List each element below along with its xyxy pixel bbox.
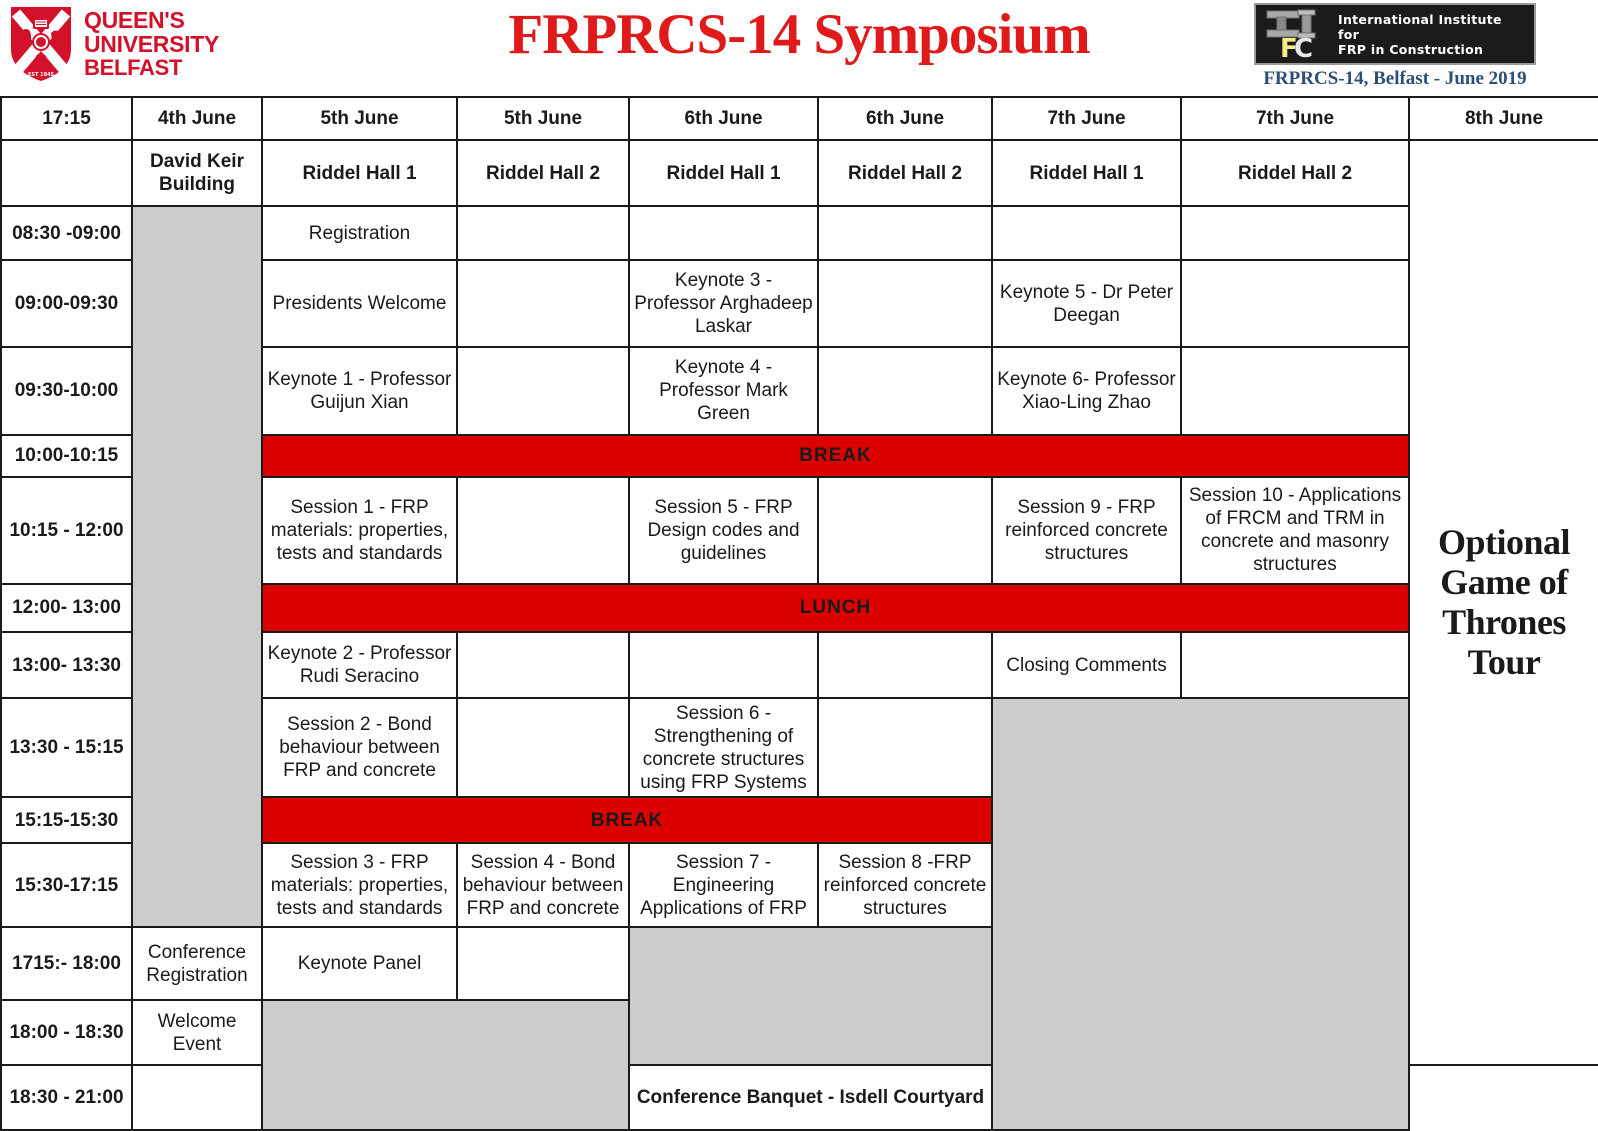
iifc-text-line-1: International Institute for [1338,12,1526,42]
cell-1015-riddel-hall-1-7th: Session 9 - FRP reinforced concrete stru… [992,477,1181,583]
cell-0830-riddel-hall-2-7th [1181,206,1409,260]
iifc-beam-icon: F C [1264,8,1330,60]
cell-1015-riddel-hall-1-5th: Session 1 - FRP materials: properties, t… [262,477,457,583]
header-date-5th-june-hall1: 5th June [262,97,457,140]
time-label-1830: 18:30 - 21:00 [1,1065,132,1130]
cell-1015-riddel-hall-2-6th [818,477,992,583]
time-label-1300: 13:00- 13:30 [1,632,132,698]
schedule-page: EST 1845 QUEEN'S UNIVERSITY BELFAST FRPR… [0,0,1598,1131]
svg-text:EST 1845: EST 1845 [28,72,55,78]
seventh-june-shaded-block [992,698,1409,1130]
cell-1530-riddel-hall-1-5th: Session 3 - FRP materials: properties, t… [262,843,457,927]
header-date-7th-june-hall1: 7th June [992,97,1181,140]
header-venue-riddel-hall-2-5th: Riddel Hall 2 [457,140,629,207]
cell-0830-riddel-hall-1-6th [629,206,818,260]
header-venue-blank [1,140,132,207]
cell-0830-riddel-hall-2-6th [818,206,992,260]
header-date-8th-june: 8th June [1409,97,1598,140]
cell-0930-riddel-hall-2-7th [1181,347,1409,434]
cell-1530-riddel-hall-2-6th: Session 8 -FRP reinforced concrete struc… [818,843,992,927]
cell-0900-riddel-hall-1-5th: Presidents Welcome [262,260,457,347]
cell-1800-david-keir: Welcome Event [132,1000,262,1065]
sixth-june-shaded-block [629,927,992,1065]
svg-text:C: C [1294,34,1313,60]
header-venue-riddel-hall-2-7th: Riddel Hall 2 [1181,140,1409,207]
table-row-0830: 08:30 -09:00 Registration [1,206,1598,260]
cell-1015-riddel-hall-2-7th: Session 10 - Applications of FRCM and TR… [1181,477,1409,583]
optional-tour-cell: Optional Game of Thrones Tour [1409,140,1598,1065]
cell-1300-riddel-hall-1-5th: Keynote 2 - Professor Rudi Seracino [262,632,457,698]
cell-1300-riddel-hall-1-6th [629,632,818,698]
time-label-1715: 1715:- 18:00 [1,927,132,1000]
cell-0930-riddel-hall-1-6th: Keynote 4 - Professor Mark Green [629,347,818,434]
header-venue-riddel-hall-1-7th: Riddel Hall 1 [992,140,1181,207]
header-time-cell: 17:15 [1,97,132,140]
iifc-logo: F C International Institute for FRP in C… [1254,3,1536,90]
time-label-1000: 10:00-10:15 [1,435,132,478]
cell-1830-david-keir [132,1065,262,1130]
cell-0900-riddel-hall-2-5th [457,260,629,347]
cell-0830-riddel-hall-1-5th: Registration [262,206,457,260]
header-date-6th-june-hall2: 6th June [818,97,992,140]
time-label-1515: 15:15-15:30 [1,797,132,843]
cell-1015-riddel-hall-2-5th [457,477,629,583]
cell-1015-riddel-hall-1-6th: Session 5 - FRP Design codes and guideli… [629,477,818,583]
cell-0900-riddel-hall-1-7th: Keynote 5 - Dr Peter Deegan [992,260,1181,347]
time-label-1330: 13:30 - 15:15 [1,698,132,797]
cell-0930-riddel-hall-1-7th: Keynote 6- Professor Xiao-Ling Zhao [992,347,1181,434]
header-venue-riddel-hall-1-5th: Riddel Hall 1 [262,140,457,207]
cell-0930-riddel-hall-2-6th [818,347,992,434]
cell-1300-riddel-hall-2-6th [818,632,992,698]
cell-1330-riddel-hall-2-6th [818,698,992,797]
time-label-1530: 15:30-17:15 [1,843,132,927]
time-label-0900: 09:00-09:30 [1,260,132,347]
cell-0900-riddel-hall-2-7th [1181,260,1409,347]
conference-banquet-cell: Conference Banquet - Isdell Courtyard [629,1065,992,1130]
cell-1330-riddel-hall-1-5th: Session 2 - Bond behaviour between FRP a… [262,698,457,797]
cell-0900-riddel-hall-1-6th: Keynote 3 - Professor Arghadeep Laskar [629,260,818,347]
iifc-logo-box: F C International Institute for FRP in C… [1254,3,1536,65]
lunch-band: LUNCH [262,584,1409,633]
fifth-june-shaded-block [262,1000,629,1130]
david-keir-shaded-block [132,206,262,927]
iifc-caption: FRPRCS-14, Belfast - June 2019 [1254,68,1536,90]
table-header-venues-row: David Keir Building Riddel Hall 1 Riddel… [1,140,1598,207]
cell-1300-riddel-hall-2-5th [457,632,629,698]
table-header-dates-row: 17:15 4th June 5th June 5th June 6th Jun… [1,97,1598,140]
cell-1330-riddel-hall-1-6th: Session 6 - Strengthening of concrete st… [629,698,818,797]
time-label-1800: 18:00 - 18:30 [1,1000,132,1065]
iifc-logo-text: International Institute for FRP in Const… [1338,12,1526,57]
cell-1530-riddel-hall-1-6th: Session 7 - Engineering Applications of … [629,843,818,927]
cell-0930-riddel-hall-2-5th [457,347,629,434]
cell-1715-riddel-hall-2-5th [457,927,629,1000]
cell-0830-riddel-hall-2-5th [457,206,629,260]
page-banner: EST 1845 QUEEN'S UNIVERSITY BELFAST FRPR… [0,0,1598,96]
cell-0830-riddel-hall-1-7th [992,206,1181,260]
cell-1330-riddel-hall-2-5th [457,698,629,797]
time-label-0930: 09:30-10:00 [1,347,132,434]
cell-0930-riddel-hall-1-5th: Keynote 1 - Professor Guijun Xian [262,347,457,434]
iifc-text-line-2: FRP in Construction [1338,42,1526,57]
cell-1300-riddel-hall-2-7th [1181,632,1409,698]
time-label-0830: 08:30 -09:00 [1,206,132,260]
header-date-7th-june-hall2: 7th June [1181,97,1409,140]
cell-1715-riddel-hall-1-5th: Keynote Panel [262,927,457,1000]
time-label-1200: 12:00- 13:00 [1,584,132,633]
cell-1530-riddel-hall-2-5th: Session 4 - Bond behaviour between FRP a… [457,843,629,927]
header-venue-riddel-hall-1-6th: Riddel Hall 1 [629,140,818,207]
time-label-1015: 10:15 - 12:00 [1,477,132,583]
cell-1715-david-keir: Conference Registration [132,927,262,1000]
break-band-afternoon: BREAK [262,797,992,843]
schedule-table: 17:15 4th June 5th June 5th June 6th Jun… [0,96,1598,1131]
break-band-morning: BREAK [262,435,1409,478]
header-venue-riddel-hall-2-6th: Riddel Hall 2 [818,140,992,207]
cell-0900-riddel-hall-2-6th [818,260,992,347]
header-date-4th-june: 4th June [132,97,262,140]
header-date-6th-june-hall1: 6th June [629,97,818,140]
header-venue-david-keir: David Keir Building [132,140,262,207]
cell-1300-riddel-hall-1-7th: Closing Comments [992,632,1181,698]
optional-tour-label: Optional Game of Thrones Tour [1414,522,1594,682]
header-date-5th-june-hall2: 5th June [457,97,629,140]
